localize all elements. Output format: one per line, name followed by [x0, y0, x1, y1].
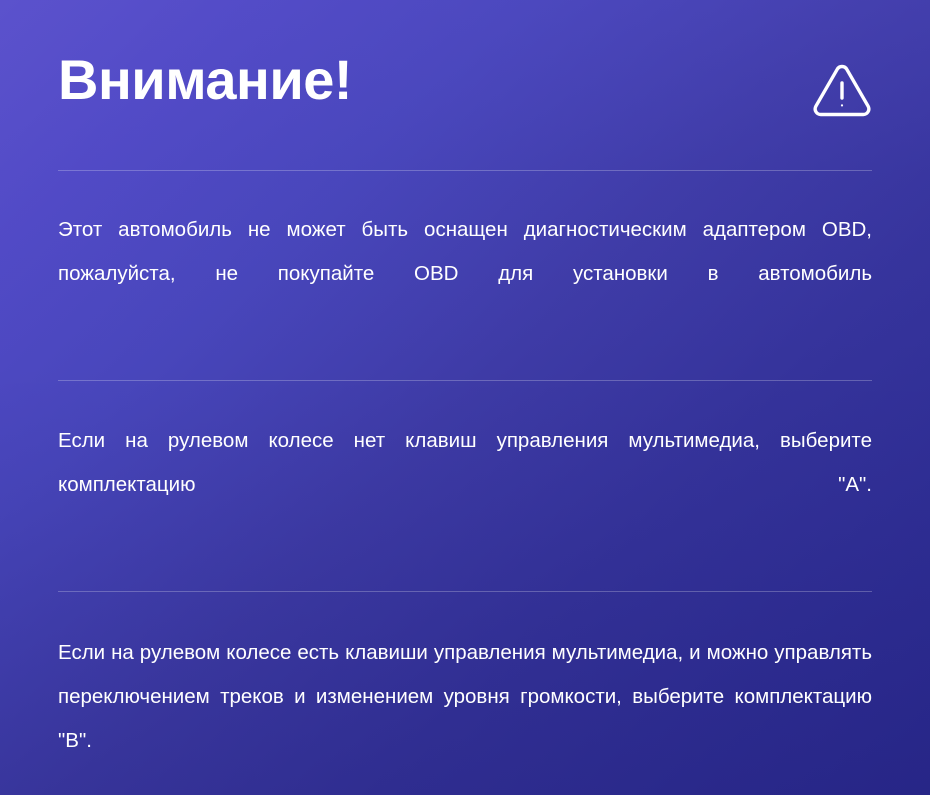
warning-triangle-icon: [810, 58, 874, 122]
page-title: Внимание!: [58, 52, 352, 108]
notice-block-3: Если на рулевом колесе есть клавиши упра…: [58, 592, 872, 795]
warning-banner: Внимание! Этот автомобиль не может быть …: [0, 0, 930, 795]
notice-block-2: Если на рулевом колесе нет клавиш управл…: [58, 381, 872, 591]
notice-block-1: Этот автомобиль не может быть оснащен ди…: [58, 171, 872, 380]
notice-text-1: Этот автомобиль не может быть оснащен ди…: [58, 208, 872, 340]
banner-header: Внимание!: [58, 0, 872, 170]
notice-text-2: Если на рулевом колесе нет клавиш управл…: [58, 419, 872, 551]
banner-content: Внимание! Этот автомобиль не может быть …: [0, 0, 930, 795]
notice-text-3: Если на рулевом колесе есть клавиши упра…: [58, 631, 872, 795]
